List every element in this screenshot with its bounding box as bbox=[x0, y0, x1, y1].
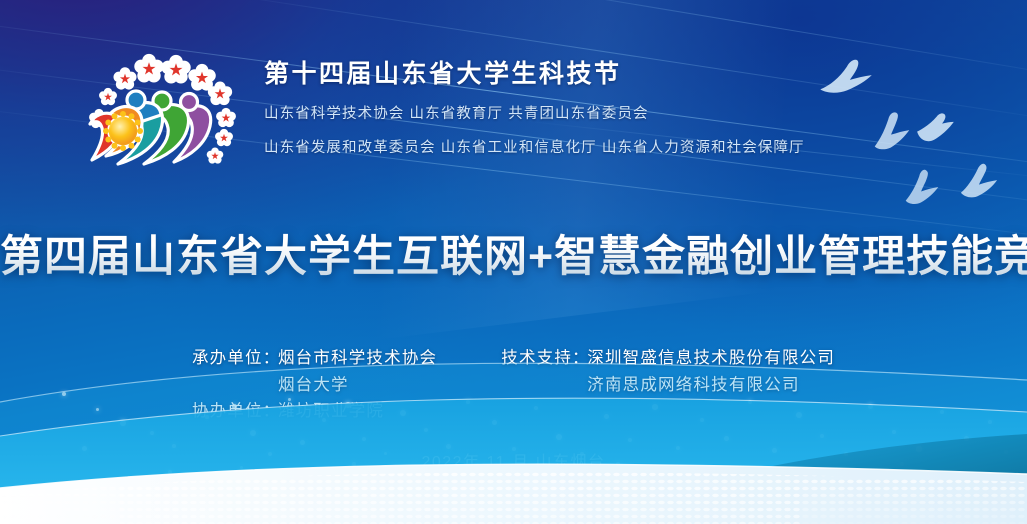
credit-row: 技术支持： 深圳智盛信息技术股份有限公司 bbox=[501, 345, 835, 372]
particle-dot bbox=[556, 434, 562, 440]
credit-value: 深圳智盛信息技术股份有限公司 bbox=[587, 345, 835, 372]
bird-icon bbox=[958, 162, 1000, 200]
particle-dot bbox=[362, 437, 366, 441]
credit-row: 承办单位： 烟台市科学技术协会 bbox=[192, 345, 437, 372]
credit-value: 潍坊职业学院 bbox=[278, 398, 384, 425]
event-banner: 第十四届山东省大学生科技节 山东省科学技术协会 山东省教育厅 共青团山东省委员会… bbox=[0, 0, 1027, 524]
organizer-line-1: 山东省科学技术协会 山东省教育厅 共青团山东省委员会 bbox=[264, 102, 805, 123]
date-location-line: 2022年 11 月 山东烟台 bbox=[0, 448, 1027, 472]
header-text-block: 第十四届山东省大学生科技节 山东省科学技术协会 山东省教育厅 共青团山东省委员会… bbox=[264, 52, 805, 157]
credit-label: 技术支持： bbox=[501, 345, 587, 372]
particle-dot bbox=[150, 431, 154, 435]
bird-icon bbox=[903, 168, 941, 206]
credit-row: 协办单位： 潍坊职业学院 bbox=[192, 398, 437, 425]
particle-dot bbox=[964, 436, 969, 441]
credits-right-column: 技术支持： 深圳智盛信息技术股份有限公司 技术支持： 济南思成网络科技有限公司 bbox=[501, 345, 835, 425]
particle-dot bbox=[892, 430, 896, 434]
particle-dot bbox=[300, 440, 305, 445]
credit-value: 烟台大学 bbox=[278, 372, 349, 399]
credits-block: 承办单位： 烟台市科学技术协会 承办单位： 烟台大学 协办单位： 潍坊职业学院 … bbox=[0, 345, 1027, 425]
credit-row: 技术支持： 济南思成网络科技有限公司 bbox=[501, 372, 835, 399]
credit-row: 承办单位： 烟台大学 bbox=[192, 372, 437, 399]
bird-icon bbox=[915, 112, 955, 146]
main-title: 第四届山东省大学生互联网+智慧金融创业管理技能竞赛 bbox=[0, 222, 1027, 284]
emblem-graphic bbox=[74, 52, 246, 178]
festival-emblem bbox=[74, 52, 246, 178]
particle-dot bbox=[724, 436, 729, 441]
credit-label: 协办单位： bbox=[192, 398, 278, 425]
festival-title: 第十四届山东省大学生科技节 bbox=[264, 60, 805, 89]
particle-dot bbox=[250, 430, 256, 436]
particle-dot bbox=[628, 438, 632, 442]
particle-dot bbox=[424, 428, 428, 432]
credit-value: 济南思成网络科技有限公司 bbox=[587, 372, 799, 399]
banner-header: 第十四届山东省大学生科技节 山东省科学技术协会 山东省教育厅 共青团山东省委员会… bbox=[74, 52, 805, 178]
bird-icon bbox=[872, 110, 912, 152]
bird-icon bbox=[818, 57, 876, 97]
halftone-dot-pattern bbox=[0, 472, 1027, 524]
particle-dot bbox=[820, 434, 824, 438]
credit-label: 承办单位： bbox=[192, 345, 278, 372]
credit-value: 烟台市科学技术协会 bbox=[278, 345, 437, 372]
organizer-line-2: 山东省发展和改革委员会 山东省工业和信息化厅 山东省人力资源和社会保障厅 bbox=[264, 136, 805, 157]
credits-left-column: 承办单位： 烟台市科学技术协会 承办单位： 烟台大学 协办单位： 潍坊职业学院 bbox=[192, 345, 437, 425]
